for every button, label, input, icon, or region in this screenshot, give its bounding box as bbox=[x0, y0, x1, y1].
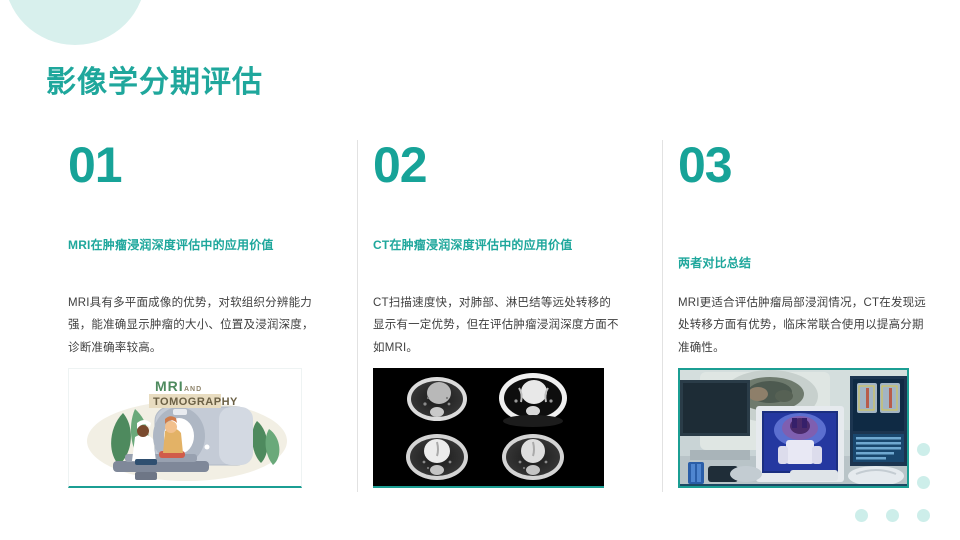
content-column-3: 03 两者对比总结 MRI更适合评估肿瘤局部浸润情况，CT在发现远处转移方面有优… bbox=[678, 140, 926, 495]
column-heading-slot-2: CT在肿瘤浸润深度评估中的应用价值 bbox=[373, 236, 621, 280]
content-column-1: 01 MRI在肿瘤浸润深度评估中的应用价值 MRI具有多平面成像的优势，对软组织… bbox=[68, 140, 316, 495]
column-media-1: MRI AND TOMOGRAPHY bbox=[68, 368, 302, 488]
column-body-1: MRI具有多平面成像的优势，对软组织分辨能力强，能准确显示肿瘤的大小、位置及浸润… bbox=[68, 292, 316, 359]
mri-tomography-illustration: MRI AND TOMOGRAPHY bbox=[68, 368, 302, 488]
column-heading-1: MRI在肿瘤浸润深度评估中的应用价值 bbox=[68, 236, 316, 254]
column-body-2: CT扫描速度快，对肺部、淋巴结等远处转移的显示有一定优势，但在评估肿瘤浸润深度方… bbox=[373, 292, 621, 359]
decorative-dot bbox=[855, 509, 868, 522]
column-heading-3: 两者对比总结 bbox=[678, 254, 926, 272]
column-body-slot-1: MRI具有多平面成像的优势，对软组织分辨能力强，能准确显示肿瘤的大小、位置及浸润… bbox=[68, 292, 316, 362]
column-divider-2 bbox=[662, 140, 663, 492]
column-heading-2: CT在肿瘤浸润深度评估中的应用价值 bbox=[373, 236, 621, 254]
decorative-dot bbox=[917, 476, 930, 489]
ct-chest-scan-images bbox=[373, 368, 604, 488]
content-column-2: 02 CT在肿瘤浸润深度评估中的应用价值 CT扫描速度快，对肺部、淋巴结等远处转… bbox=[373, 140, 621, 495]
decorative-circle bbox=[4, 0, 146, 45]
columns-container: 01 MRI在肿瘤浸润深度评估中的应用价值 MRI具有多平面成像的优势，对软组织… bbox=[0, 140, 960, 495]
column-number-1: 01 bbox=[68, 140, 316, 196]
svg-text:TOMOGRAPHY: TOMOGRAPHY bbox=[153, 396, 238, 408]
column-media-2 bbox=[373, 368, 604, 488]
column-divider-1 bbox=[357, 140, 358, 492]
column-body-slot-3: MRI更适合评估肿瘤局部浸润情况，CT在发现远处转移方面有优势，临床常联合使用以… bbox=[678, 292, 926, 362]
column-heading-slot-1: MRI在肿瘤浸润深度评估中的应用价值 bbox=[68, 236, 316, 280]
page-title: 影像学分期评估 bbox=[46, 65, 263, 101]
svg-text:AND: AND bbox=[184, 386, 202, 393]
decorative-dot bbox=[917, 509, 930, 522]
decorative-dots bbox=[855, 443, 940, 523]
slide-root: 影像学分期评估 01 MRI在肿瘤浸润深度评估中的应用价值 MRI具有多平面成像… bbox=[0, 0, 960, 540]
svg-text:MRI: MRI bbox=[155, 378, 184, 394]
decorative-dot bbox=[886, 509, 899, 522]
column-number-2: 02 bbox=[373, 140, 621, 196]
decorative-dot bbox=[917, 443, 930, 456]
column-number-3: 03 bbox=[678, 140, 926, 196]
column-body-slot-2: CT扫描速度快，对肺部、淋巴结等远处转移的显示有一定优势，但在评估肿瘤浸润深度方… bbox=[373, 292, 621, 362]
column-body-3: MRI更适合评估肿瘤局部浸润情况，CT在发现远处转移方面有优势，临床常联合使用以… bbox=[678, 292, 926, 359]
